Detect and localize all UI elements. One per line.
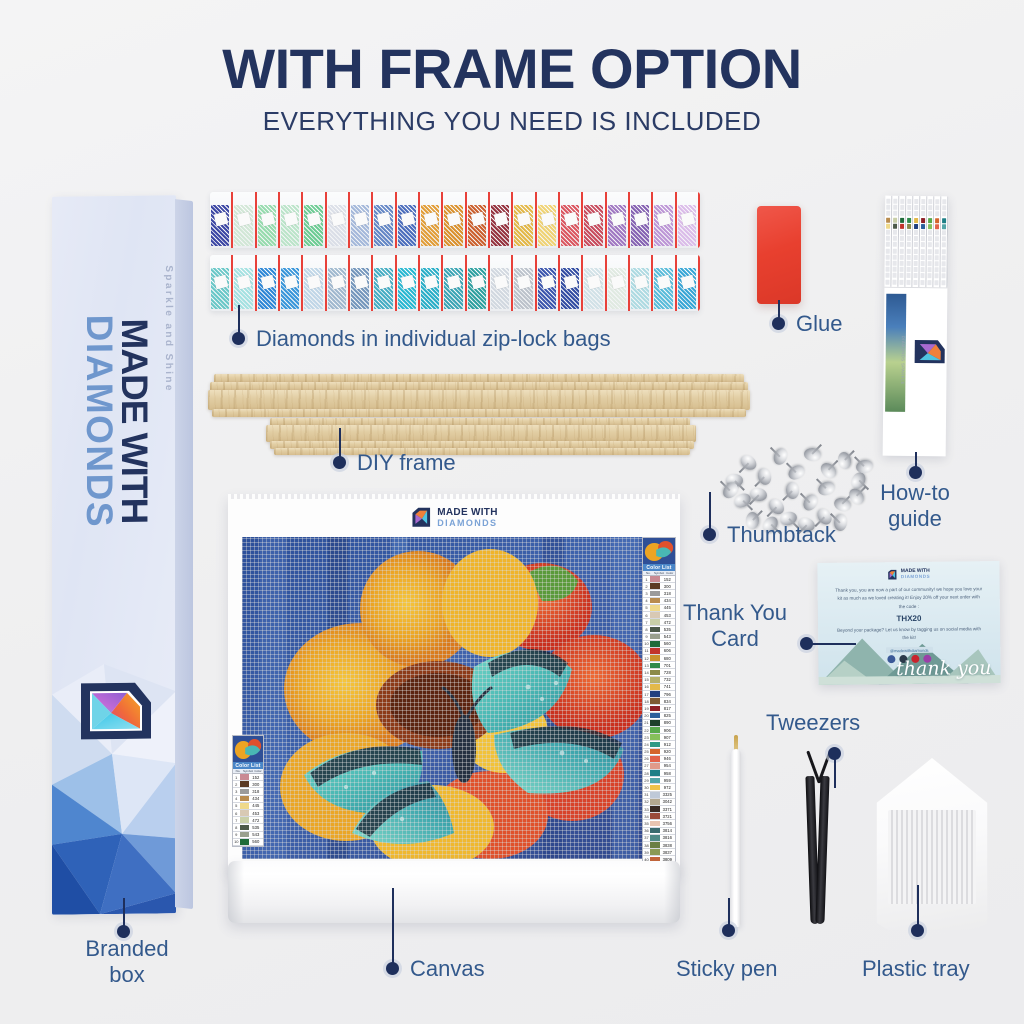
- callout-dot-diy-frame: [333, 456, 346, 469]
- howto-table-cell: [900, 248, 904, 253]
- howto-color-table: [884, 196, 948, 289]
- color-list-row: 4434: [643, 598, 675, 605]
- color-list-row: 313325: [643, 792, 675, 799]
- callout-leader-sticky-pen: [728, 898, 730, 925]
- color-row-code: 958: [660, 771, 675, 776]
- thumbtack-pin: [816, 478, 826, 488]
- howto-table-cell: [941, 280, 945, 285]
- frame-slat: [274, 448, 690, 455]
- howto-table-cell: [914, 211, 918, 216]
- howto-table-cell: [886, 211, 890, 216]
- color-list-row: 16741: [643, 684, 675, 691]
- color-list-row: 1152: [643, 576, 675, 583]
- howto-table-cell: [935, 267, 939, 272]
- color-row-number: 25: [643, 749, 650, 754]
- color-row-number: 31: [643, 792, 650, 797]
- color-row-swatch: [650, 677, 660, 683]
- color-row-number: 5: [233, 803, 240, 808]
- color-row-number: 3: [233, 789, 240, 794]
- color-row-number: 23: [643, 735, 650, 740]
- color-row-swatch: [650, 641, 660, 647]
- thumbtack: [738, 452, 759, 473]
- howto-table-cell: [893, 255, 897, 260]
- ziplock-bag-row-bottom: [210, 255, 700, 311]
- ziplock-bag: [373, 255, 396, 311]
- howto-table-cell: [893, 261, 897, 266]
- howto-table-cell: [921, 218, 925, 223]
- color-row-code: 445: [660, 605, 675, 610]
- callout-dot-thumbtack: [703, 528, 716, 541]
- howto-table-cell: [914, 205, 918, 210]
- color-row-code: 453: [660, 613, 675, 618]
- howto-table-cell: [914, 255, 918, 260]
- color-row-number: 28: [643, 771, 650, 776]
- ziplock-bag: [327, 255, 350, 311]
- howto-guide-booklet: DIAMONDS SPARKLE: [883, 196, 949, 457]
- ziplock-bag: [210, 255, 233, 311]
- ziplock-bag: [583, 192, 606, 248]
- howto-table-cell: [900, 205, 904, 210]
- color-row-number: 35: [643, 821, 650, 826]
- howto-table-cell: [900, 242, 904, 247]
- howto-table-cell: [885, 279, 889, 284]
- ziplock-bag: [490, 192, 513, 248]
- thank-you-logo: MADE WITH DIAMONDS: [887, 569, 930, 580]
- color-row-swatch: [240, 774, 249, 780]
- color-row-code: 912: [660, 742, 675, 747]
- thumbtack-pile: [716, 440, 866, 530]
- color-list-row: 2300: [643, 583, 675, 590]
- color-row-code: 3816: [660, 835, 675, 840]
- color-list-row: 8535: [643, 626, 675, 633]
- color-row-swatch: [650, 663, 660, 669]
- color-list-row: 323042: [643, 799, 675, 806]
- color-row-code: 472: [249, 818, 263, 823]
- color-list-row: 15732: [643, 677, 675, 684]
- color-row-swatch: [650, 792, 660, 798]
- ziplock-bag: [583, 255, 606, 311]
- howto-table-cell: [907, 224, 911, 229]
- callout-dot-canvas: [386, 962, 399, 975]
- color-row-code: 954: [660, 763, 675, 768]
- color-row-code: 606: [660, 648, 675, 653]
- color-list-row: 383838: [643, 842, 675, 849]
- color-row-number: 6: [643, 613, 650, 618]
- color-row-number: 11: [643, 648, 650, 653]
- color-row-swatch: [650, 627, 660, 633]
- color-row-swatch: [650, 612, 660, 618]
- color-row-swatch: [650, 842, 660, 848]
- howto-table-cell: [886, 205, 890, 210]
- color-row-swatch: [650, 785, 660, 791]
- callout-leader-howto: [915, 452, 917, 467]
- howto-table-cell: [906, 273, 910, 278]
- thank-you-card: MADE WITH DIAMONDS Thank you, you are no…: [817, 561, 1000, 685]
- howto-table-cell: [893, 211, 897, 216]
- color-row-number: 7: [233, 818, 240, 823]
- color-row-code: 300: [660, 584, 675, 589]
- callout-leader-thumbtack: [709, 492, 711, 529]
- color-row-number: 4: [643, 598, 650, 603]
- callout-dot-howto: [909, 466, 922, 479]
- color-row-code: 560: [249, 839, 263, 844]
- howto-table-cell: [899, 279, 903, 284]
- branded-box: MADE WITH DIAMONDS: [52, 195, 176, 915]
- howto-vertical-text: DIAMONDS SPARKLE: [900, 336, 906, 416]
- thank-you-message-2: Beyond your package? Let us know by tagg…: [836, 625, 982, 643]
- color-list-row: 5445: [233, 803, 263, 810]
- thank-you-message: Thank you, you are now a part of our com…: [834, 585, 984, 612]
- callout-leader-canvas: [392, 888, 394, 963]
- color-row-swatch: [650, 583, 660, 589]
- color-row-number: 21: [643, 720, 650, 725]
- color-list-row: 333371: [643, 806, 675, 813]
- callout-dot-plastic-tray: [911, 924, 924, 937]
- color-list-row: 14728: [643, 669, 675, 676]
- howto-table-cell: [927, 280, 931, 285]
- color-row-number: 13: [643, 663, 650, 668]
- color-row-swatch: [650, 698, 660, 704]
- callout-leader-tweezers: [834, 752, 836, 788]
- color-row-code: 728: [660, 670, 675, 675]
- howto-table-cell: [900, 199, 904, 204]
- thumbtack-pin: [782, 490, 792, 500]
- howto-table-cell: [934, 274, 938, 279]
- color-row-swatch: [650, 763, 660, 769]
- color-row-swatch: [650, 619, 660, 625]
- howto-table-cell: [907, 261, 911, 266]
- col-color-left: Color: [253, 769, 263, 773]
- ziplock-bag: [513, 255, 536, 311]
- col-symbol-left: Symbol: [243, 769, 253, 773]
- color-list-rows-right: 1152230033184434544564537472853595431056…: [643, 576, 675, 864]
- howto-table-cell: [942, 199, 946, 204]
- color-list-row: 8535: [233, 824, 263, 831]
- thumbtack: [803, 447, 821, 461]
- callout-dot-glue: [772, 317, 785, 330]
- howto-table-cell: [942, 249, 946, 254]
- tweezers: [800, 748, 846, 928]
- howto-table-cell: [914, 236, 918, 241]
- facebook-icon: [887, 655, 895, 663]
- howto-table-cell: [914, 224, 918, 229]
- howto-table-cell: [886, 254, 890, 259]
- howto-table-cell: [941, 274, 945, 279]
- color-list-row: 7472: [643, 619, 675, 626]
- ziplock-bag: [560, 255, 583, 311]
- branded-box-wordmark: MADE WITH DIAMONDS: [81, 261, 151, 582]
- callout-sticky-pen: Sticky pen: [676, 956, 778, 982]
- thumbtack-pin: [812, 444, 822, 454]
- color-row-number: 30: [643, 785, 650, 790]
- canvas-logo-line-2: DIAMONDS: [437, 518, 497, 529]
- howto-table-cell: [914, 267, 918, 272]
- color-row-number: 38: [643, 843, 650, 848]
- howto-table-cell: [907, 199, 911, 204]
- howto-table-cell: [914, 199, 918, 204]
- color-row-swatch: [240, 803, 249, 809]
- color-row-code: 825: [660, 713, 675, 718]
- ziplock-bag: [537, 255, 560, 311]
- color-row-number: 15: [643, 677, 650, 682]
- howto-table-column: [940, 196, 948, 287]
- color-row-number: 5: [643, 605, 650, 610]
- howto-table-cell: [886, 248, 890, 253]
- howto-table-cell: [928, 212, 932, 217]
- howto-table-cell: [942, 218, 946, 223]
- howto-table-cell: [920, 273, 924, 278]
- diamond-grid-overlay: [242, 537, 666, 859]
- color-row-number: 7: [643, 620, 650, 625]
- thumbtack-pin: [854, 456, 864, 466]
- col-no: No.: [643, 571, 654, 575]
- color-row-number: 18: [643, 699, 650, 704]
- ziplock-bag: [653, 192, 676, 248]
- ziplock-bag: [467, 192, 490, 248]
- color-row-number: 32: [643, 799, 650, 804]
- color-row-swatch: [650, 598, 660, 604]
- color-row-code: 3325: [660, 792, 675, 797]
- howto-table-cell: [914, 230, 918, 235]
- howto-table-cell: [935, 236, 939, 241]
- ziplock-bag: [467, 255, 490, 311]
- howto-table-cell: [935, 255, 939, 260]
- color-row-code: 3756: [660, 821, 675, 826]
- howto-table-cell: [907, 242, 911, 247]
- color-row-code: 318: [249, 789, 263, 794]
- thank-you-script: thank you: [896, 662, 992, 679]
- howto-brand-logo-icon: [912, 336, 946, 366]
- color-row-number: 24: [643, 742, 650, 747]
- color-row-number: 6: [233, 811, 240, 816]
- howto-table-cell: [942, 243, 946, 248]
- color-list-thumbnail-left: [233, 736, 263, 762]
- color-row-number: 26: [643, 756, 650, 761]
- color-row-number: 10: [643, 641, 650, 646]
- color-list-row: 23907: [643, 734, 675, 741]
- callout-canvas: Canvas: [410, 956, 485, 982]
- ziplock-bag: [233, 255, 256, 311]
- ziplock-bag: [210, 192, 233, 248]
- color-list-row: 9543: [643, 634, 675, 641]
- howto-table-cell: [893, 230, 897, 235]
- color-list-row: 17796: [643, 691, 675, 698]
- howto-table-cell: [920, 280, 924, 285]
- color-row-swatch: [650, 691, 660, 697]
- color-row-swatch: [650, 706, 660, 712]
- howto-table-cell: [886, 199, 890, 204]
- howto-table-cell: [892, 273, 896, 278]
- howto-table-cell: [928, 255, 932, 260]
- howto-table-cell: [907, 230, 911, 235]
- color-row-code: 3814: [660, 828, 675, 833]
- color-list-row: 393837: [643, 849, 675, 856]
- col-color: Color: [664, 571, 675, 575]
- howto-table-cell: [907, 218, 911, 223]
- color-row-swatch: [240, 825, 249, 831]
- color-row-swatch: [650, 734, 660, 740]
- color-row-number: 2: [233, 782, 240, 787]
- color-row-swatch: [650, 778, 660, 784]
- color-row-number: 22: [643, 728, 650, 733]
- color-row-code: 907: [660, 735, 675, 740]
- thank-you-logo-icon: [887, 569, 898, 580]
- color-row-swatch: [650, 828, 660, 834]
- color-list-rows-left: 1152230033184434544564537472853595431056…: [233, 774, 263, 846]
- callout-howto-guide: How-to guide: [852, 480, 978, 532]
- ziplock-bag-row-top: [210, 192, 700, 248]
- howto-table-cell: [935, 224, 939, 229]
- callout-leader-diamonds: [238, 305, 240, 333]
- color-list-title: Color List: [643, 564, 675, 571]
- color-row-code: 3721: [660, 814, 675, 819]
- howto-table-cell: [921, 230, 925, 235]
- color-list-row: 1152: [233, 774, 263, 781]
- col-no-left: No.: [233, 769, 243, 773]
- howto-table-cell: [900, 255, 904, 260]
- ziplock-bag: [677, 192, 700, 248]
- howto-table-cell: [900, 236, 904, 241]
- howto-table-cell: [886, 230, 890, 235]
- howto-table-cell: [886, 273, 890, 278]
- callout-branded-box: Branded box: [62, 936, 192, 988]
- color-row-swatch: [650, 742, 660, 748]
- color-list-row: 10560: [643, 641, 675, 648]
- ziplock-bag: [327, 192, 350, 248]
- ziplock-bag: [373, 192, 396, 248]
- howto-table-cell: [893, 224, 897, 229]
- color-list-row: 6453: [643, 612, 675, 619]
- infographic-root: WITH FRAME OPTION EVERYTHING YOU NEED IS…: [0, 0, 1024, 1024]
- thumbtack: [785, 481, 800, 499]
- howto-table-cell: [921, 261, 925, 266]
- frame-slat: [212, 409, 746, 417]
- howto-table-cell: [886, 261, 890, 266]
- howto-table-cell: [935, 218, 939, 223]
- color-list-row: 4434: [233, 796, 263, 803]
- howto-table-cell: [913, 280, 917, 285]
- color-row-number: 1: [643, 577, 650, 582]
- ziplock-bag: [303, 192, 326, 248]
- callout-tweezers: Tweezers: [766, 710, 860, 736]
- color-row-code: 300: [249, 782, 263, 787]
- howto-table-cell: [893, 242, 897, 247]
- color-row-code: 972: [660, 785, 675, 790]
- tray-ribs: [888, 810, 976, 904]
- color-list-row: 18834: [643, 698, 675, 705]
- color-list-row: 21890: [643, 720, 675, 727]
- callout-dot-diamonds: [232, 332, 245, 345]
- color-row-code: 959: [660, 778, 675, 783]
- color-row-code: 543: [660, 634, 675, 639]
- color-list-row: 5445: [643, 605, 675, 612]
- thumbtack-pin: [753, 510, 763, 520]
- color-row-code: 560: [660, 641, 675, 646]
- howto-table-cell: [914, 261, 918, 266]
- thumbtack: [756, 467, 773, 487]
- color-row-code: 453: [249, 811, 263, 816]
- diy-frame: [208, 372, 753, 458]
- color-row-code: 543: [249, 832, 263, 837]
- color-list-row: 20825: [643, 713, 675, 720]
- color-list-row: 3318: [233, 788, 263, 795]
- color-list-row: 19817: [643, 705, 675, 712]
- callout-dot-sticky-pen: [722, 924, 735, 937]
- color-row-number: 9: [233, 832, 240, 837]
- color-row-code: 920: [660, 749, 675, 754]
- howto-table-cell: [935, 230, 939, 235]
- ziplock-bag: [607, 255, 630, 311]
- ziplock-bag: [443, 192, 466, 248]
- color-row-number: 17: [643, 692, 650, 697]
- ziplock-bag: [653, 255, 676, 311]
- color-list-row: 373816: [643, 835, 675, 842]
- howto-table-cell: [935, 261, 939, 266]
- color-row-code: 434: [249, 796, 263, 801]
- howto-table-cell: [921, 211, 925, 216]
- ziplock-bag: [420, 192, 443, 248]
- color-row-code: 3837: [660, 850, 675, 855]
- color-row-swatch: [650, 576, 660, 582]
- tweezer-arm-right: [815, 776, 829, 924]
- color-row-swatch: [650, 770, 660, 776]
- color-row-swatch: [240, 817, 249, 823]
- color-list-row: 3318: [643, 590, 675, 597]
- color-row-code: 834: [660, 699, 675, 704]
- color-row-swatch: [240, 781, 249, 787]
- canvas-with-artwork: MADE WITH DIAMONDS: [228, 497, 680, 927]
- color-row-swatch: [650, 684, 660, 690]
- ziplock-bag: [397, 192, 420, 248]
- color-row-swatch: [650, 835, 660, 841]
- thumbtack: [816, 479, 837, 497]
- callout-leader-thank-you: [812, 643, 856, 645]
- howto-table-cell: [893, 217, 897, 222]
- color-row-number: 9: [643, 634, 650, 639]
- callout-leader-diy-frame: [339, 428, 341, 457]
- howto-table-cell: [907, 205, 911, 210]
- howto-table-cell: [893, 199, 897, 204]
- color-list-row: 7472: [233, 817, 263, 824]
- color-row-swatch: [650, 605, 660, 611]
- canvas-roll: [228, 861, 680, 923]
- howto-table-cell: [886, 267, 890, 272]
- ziplock-bag: [560, 192, 583, 248]
- howto-table-cell: [935, 199, 939, 204]
- howto-table-cell: [942, 205, 946, 210]
- color-row-swatch: [650, 648, 660, 654]
- howto-table-cell: [900, 224, 904, 229]
- color-row-code: 906: [660, 728, 675, 733]
- brand-line-2: DIAMONDS: [81, 261, 117, 581]
- color-row-code: 890: [660, 720, 675, 725]
- howto-table-cell: [914, 218, 918, 223]
- color-list-row: 353756: [643, 820, 675, 827]
- color-row-code: 472: [660, 620, 675, 625]
- color-row-number: 8: [233, 825, 240, 830]
- howto-table-cell: [934, 280, 938, 285]
- thumbtack-pin: [754, 476, 764, 486]
- thumbtack: [836, 451, 852, 470]
- callout-thumbtack: Thumbtack: [727, 522, 836, 548]
- howto-table-cell: [928, 236, 932, 241]
- ziplock-bag: [280, 255, 303, 311]
- callout-diy-frame: DIY frame: [357, 450, 456, 476]
- howto-table-cell: [942, 224, 946, 229]
- howto-table-cell: [886, 242, 890, 247]
- color-row-code: 3042: [660, 799, 675, 804]
- howto-table-cell: [893, 267, 897, 272]
